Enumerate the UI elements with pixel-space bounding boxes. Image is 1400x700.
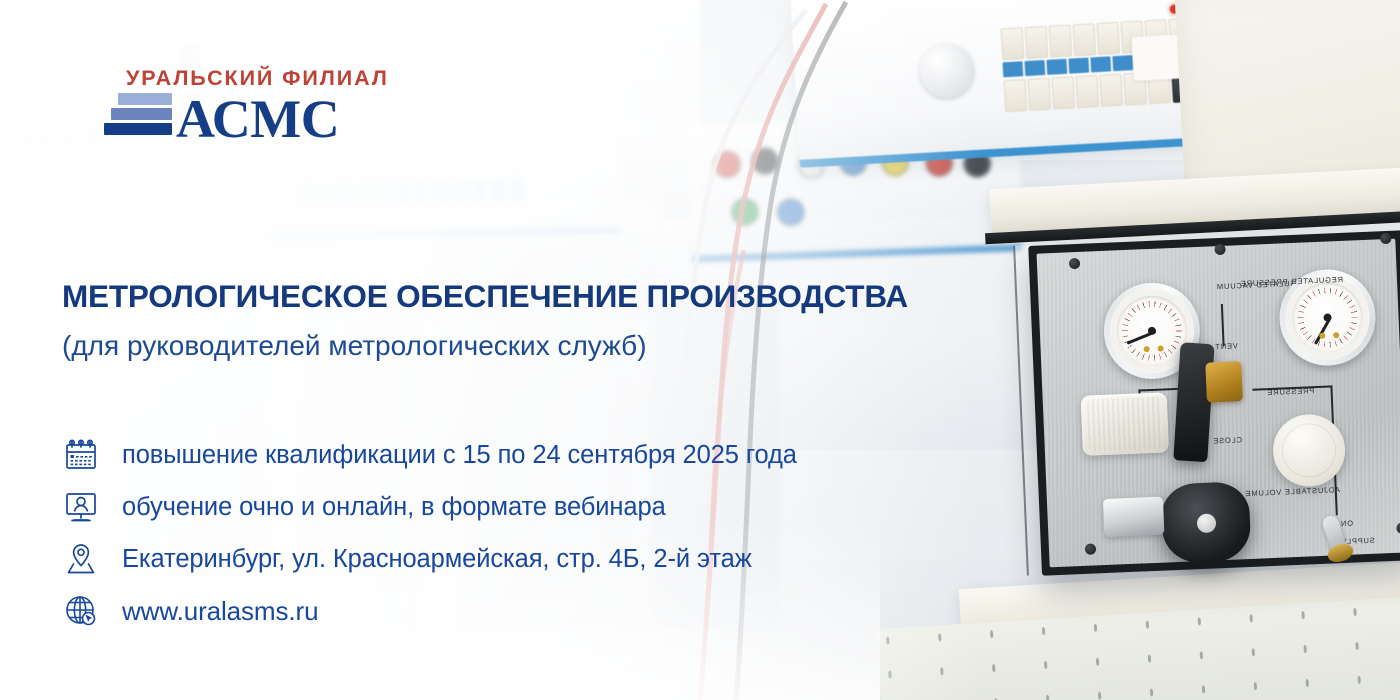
page-subtitle: (для руководителей метрологических служб…: [62, 330, 1042, 362]
map-pin-icon: [62, 540, 100, 578]
info-row-website[interactable]: www.uralasms.ru: [62, 588, 797, 634]
info-text-dates: повышение квалификации с 15 по 24 сентяб…: [122, 441, 797, 470]
course-info-list: повышение квалификации с 15 по 24 сентяб…: [62, 432, 797, 640]
info-text-format: обучение очно и онлайн, в формате вебина…: [122, 493, 666, 522]
promo-banner: REGULATED VACUUM REGULATED PRESSURE VENT…: [0, 0, 1400, 700]
asms-logo[interactable]: УРАЛЬСКИЙ ФИЛИАЛ АСМС: [104, 66, 389, 141]
banner-content: УРАЛЬСКИЙ ФИЛИАЛ АСМС МЕТРОЛОГИЧЕСКОЕ ОБ…: [0, 0, 1400, 700]
info-row-address: Екатеринбург, ул. Красноармейская, стр. …: [62, 536, 797, 582]
logo-main: АСМС: [104, 92, 389, 141]
globe-cursor-icon: [62, 592, 100, 630]
logo-top-line: УРАЛЬСКИЙ ФИЛИАЛ: [126, 66, 389, 91]
info-text-website[interactable]: www.uralasms.ru: [122, 596, 318, 627]
info-text-address: Екатеринбург, ул. Красноармейская, стр. …: [122, 545, 752, 574]
info-row-dates: повышение квалификации с 15 по 24 сентяб…: [62, 432, 797, 478]
info-row-format: обучение очно и онлайн, в формате вебина…: [62, 484, 797, 530]
page-title: МЕТРОЛОГИЧЕСКОЕ ОБЕСПЕЧЕНИЕ ПРОИЗВОДСТВА: [62, 280, 1042, 313]
logo-wordmark: АСМС: [176, 97, 339, 141]
asms-logo-mark-icon: [104, 92, 172, 138]
webinar-monitor-icon: [62, 488, 100, 526]
calendar-icon: [62, 436, 100, 474]
